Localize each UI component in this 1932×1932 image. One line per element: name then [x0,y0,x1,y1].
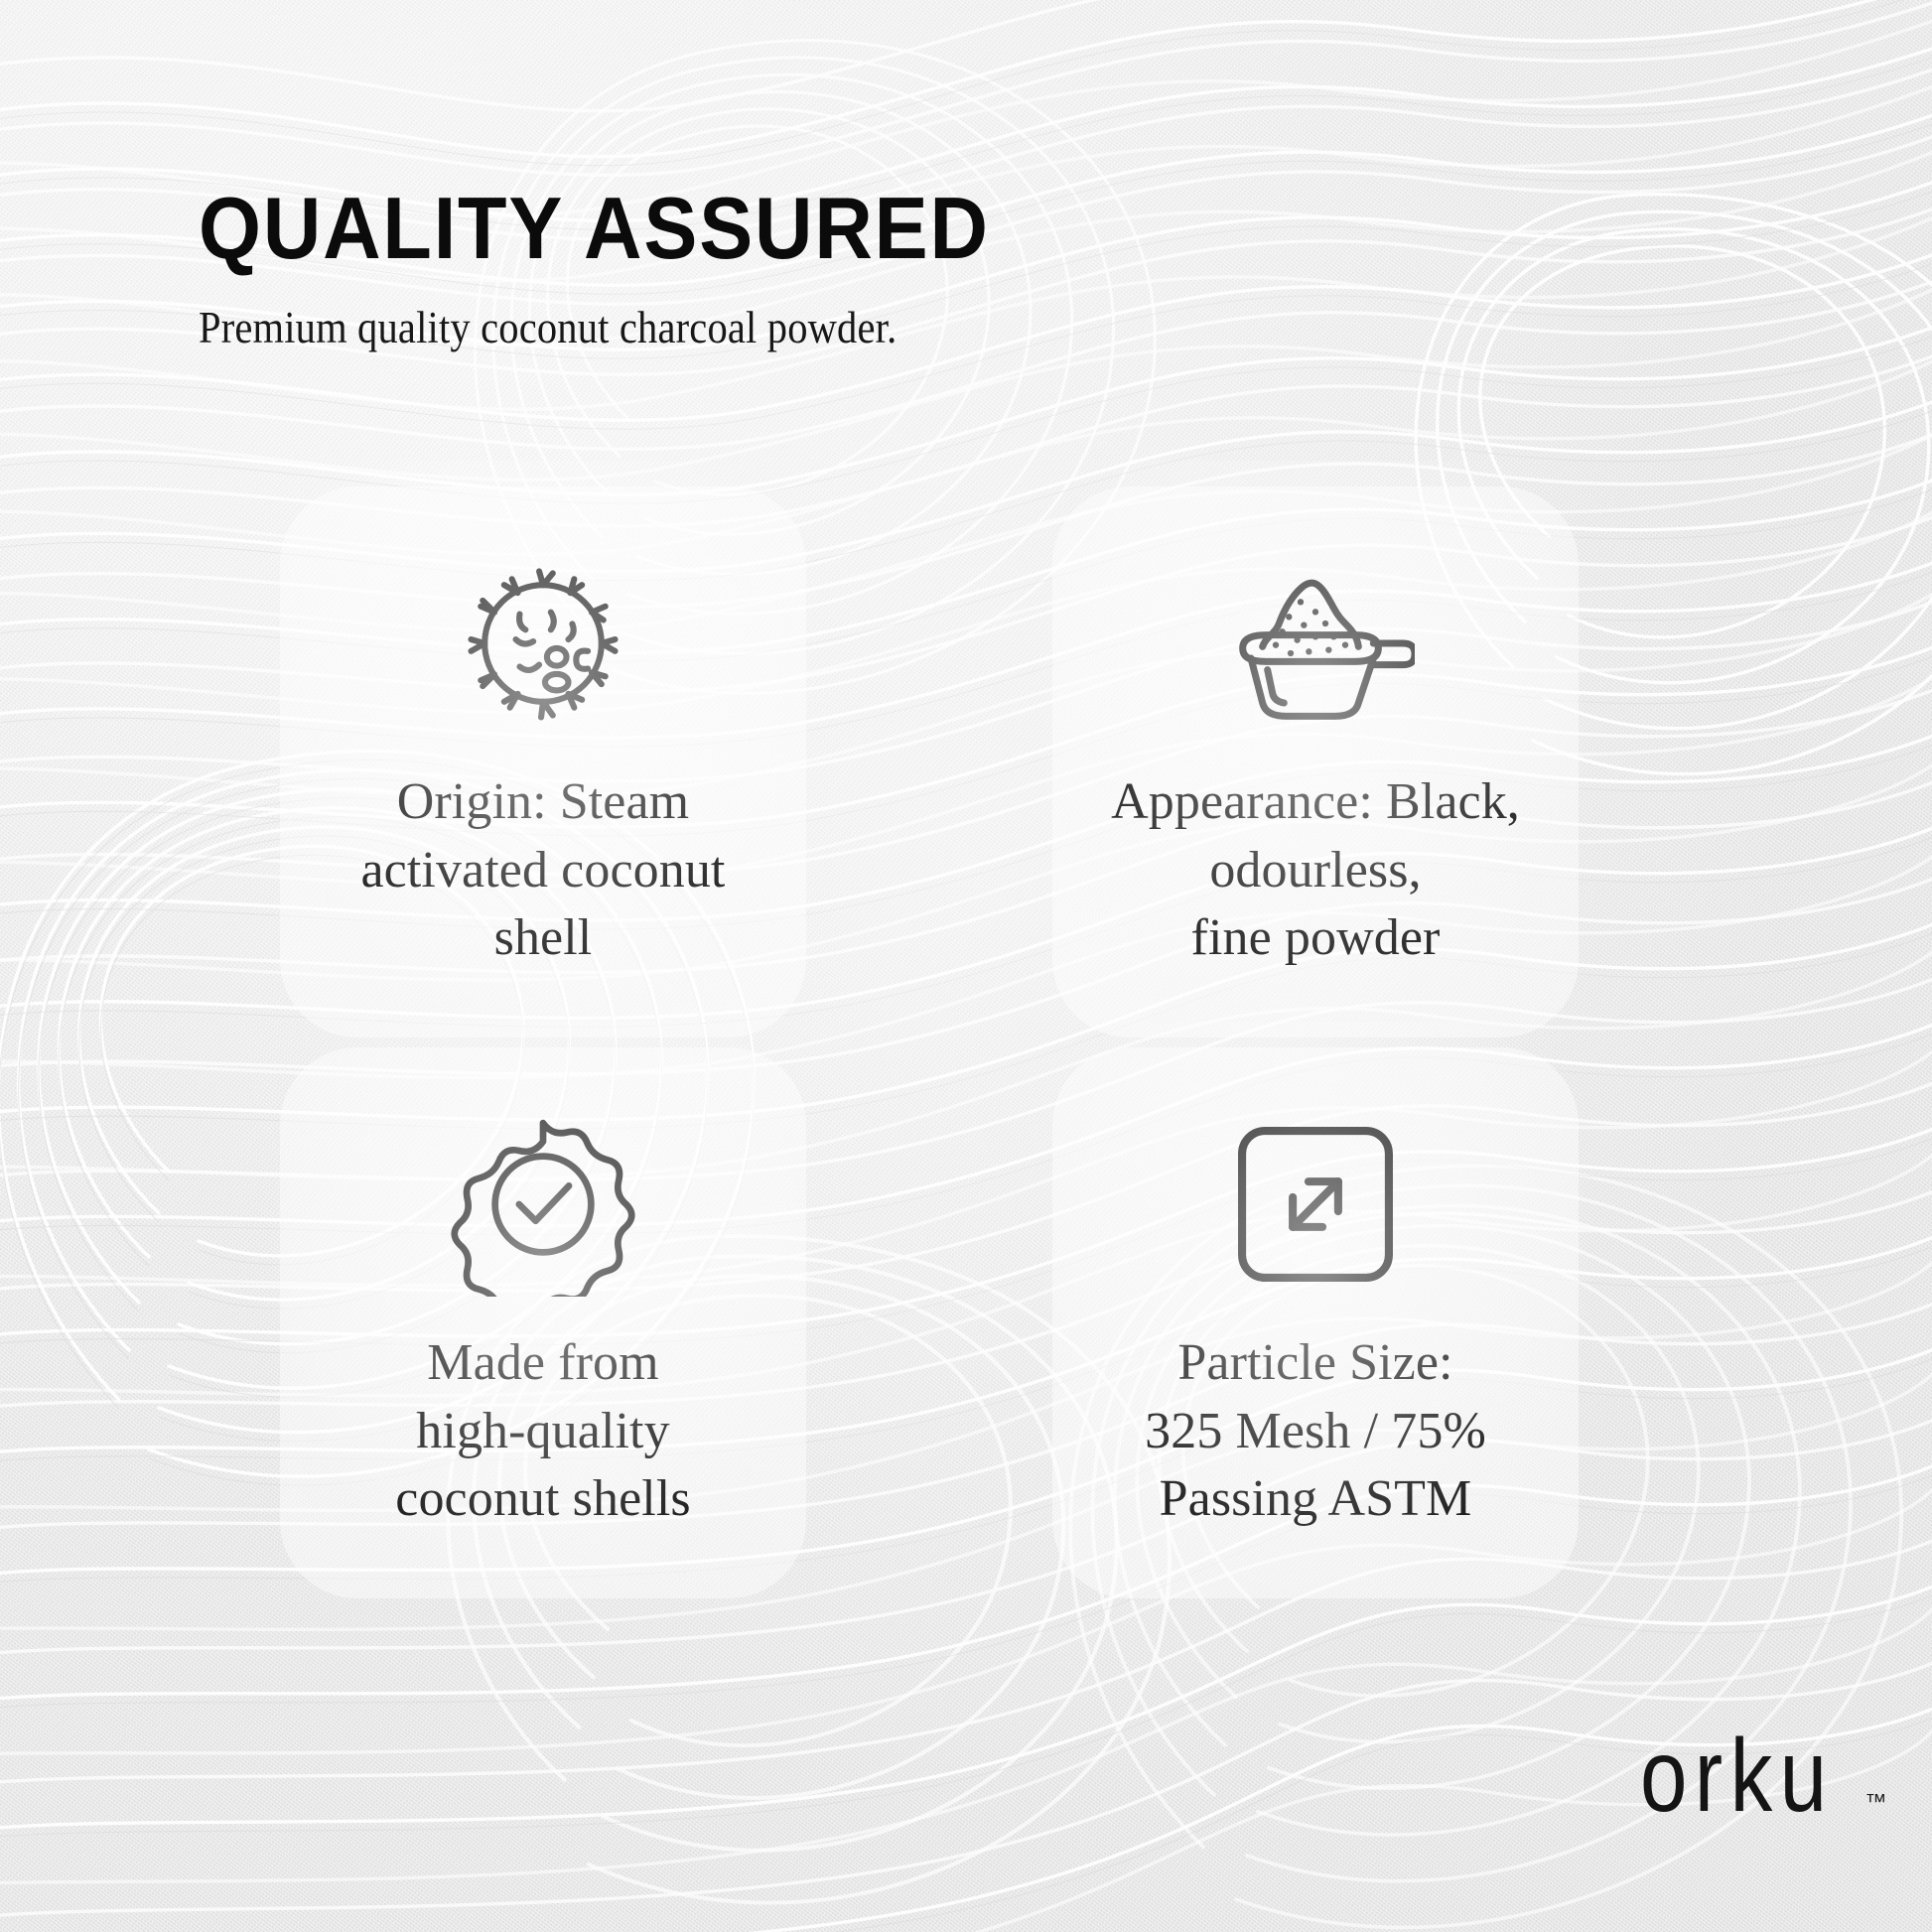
brand-logo: orku ™ [1640,1729,1886,1825]
card-text-line: Passing ASTM [1145,1465,1486,1534]
feature-card-made-from: Made from high-quality coconut shells [280,1047,806,1598]
card-text-line: Appearance: Black, [1111,768,1520,837]
feature-card-text: Particle Size: 325 Mesh / 75% Passing AS… [1131,1329,1500,1534]
card-text-line: Origin: Steam [361,768,726,837]
card-text-line: fine powder [1111,904,1520,973]
card-text-line: coconut shells [395,1465,690,1534]
card-text-line: Made from [395,1329,690,1398]
card-text-line: 325 Mesh / 75% [1145,1398,1486,1466]
card-text-line: activated coconut [361,837,726,905]
feature-card-text: Origin: Steam activated coconut shell [347,768,740,973]
feature-card-text: Appearance: Black, odourless, fine powde… [1097,768,1534,973]
resize-arrows-square-icon [1216,1105,1415,1304]
card-text-line: Particle Size: [1145,1329,1486,1398]
page-title: QUALITY ASSURED [199,185,990,272]
card-text-line: odourless, [1111,837,1520,905]
poster-canvas: QUALITY ASSURED Premium quality coconut … [0,0,1932,1932]
feature-card-appearance: Appearance: Black, odourless, fine powde… [1052,486,1579,1037]
feature-card-grid: Origin: Steam activated coconut shell [280,486,1590,1598]
card-text-line: shell [361,904,726,973]
header: QUALITY ASSURED Premium quality coconut … [199,185,1058,353]
verified-badge-check-icon [444,1105,642,1304]
brand-logo-wordmark: orku [1640,1729,1834,1825]
coconut-icon [444,544,642,743]
trademark-symbol: ™ [1864,1791,1886,1813]
feature-card-particle-size: Particle Size: 325 Mesh / 75% Passing AS… [1052,1047,1579,1598]
page-subtitle: Premium quality coconut charcoal powder. [199,304,972,353]
feature-card-origin: Origin: Steam activated coconut shell [280,486,806,1037]
feature-card-text: Made from high-quality coconut shells [381,1329,704,1534]
powder-scoop-icon [1216,544,1415,743]
card-text-line: high-quality [395,1398,690,1466]
